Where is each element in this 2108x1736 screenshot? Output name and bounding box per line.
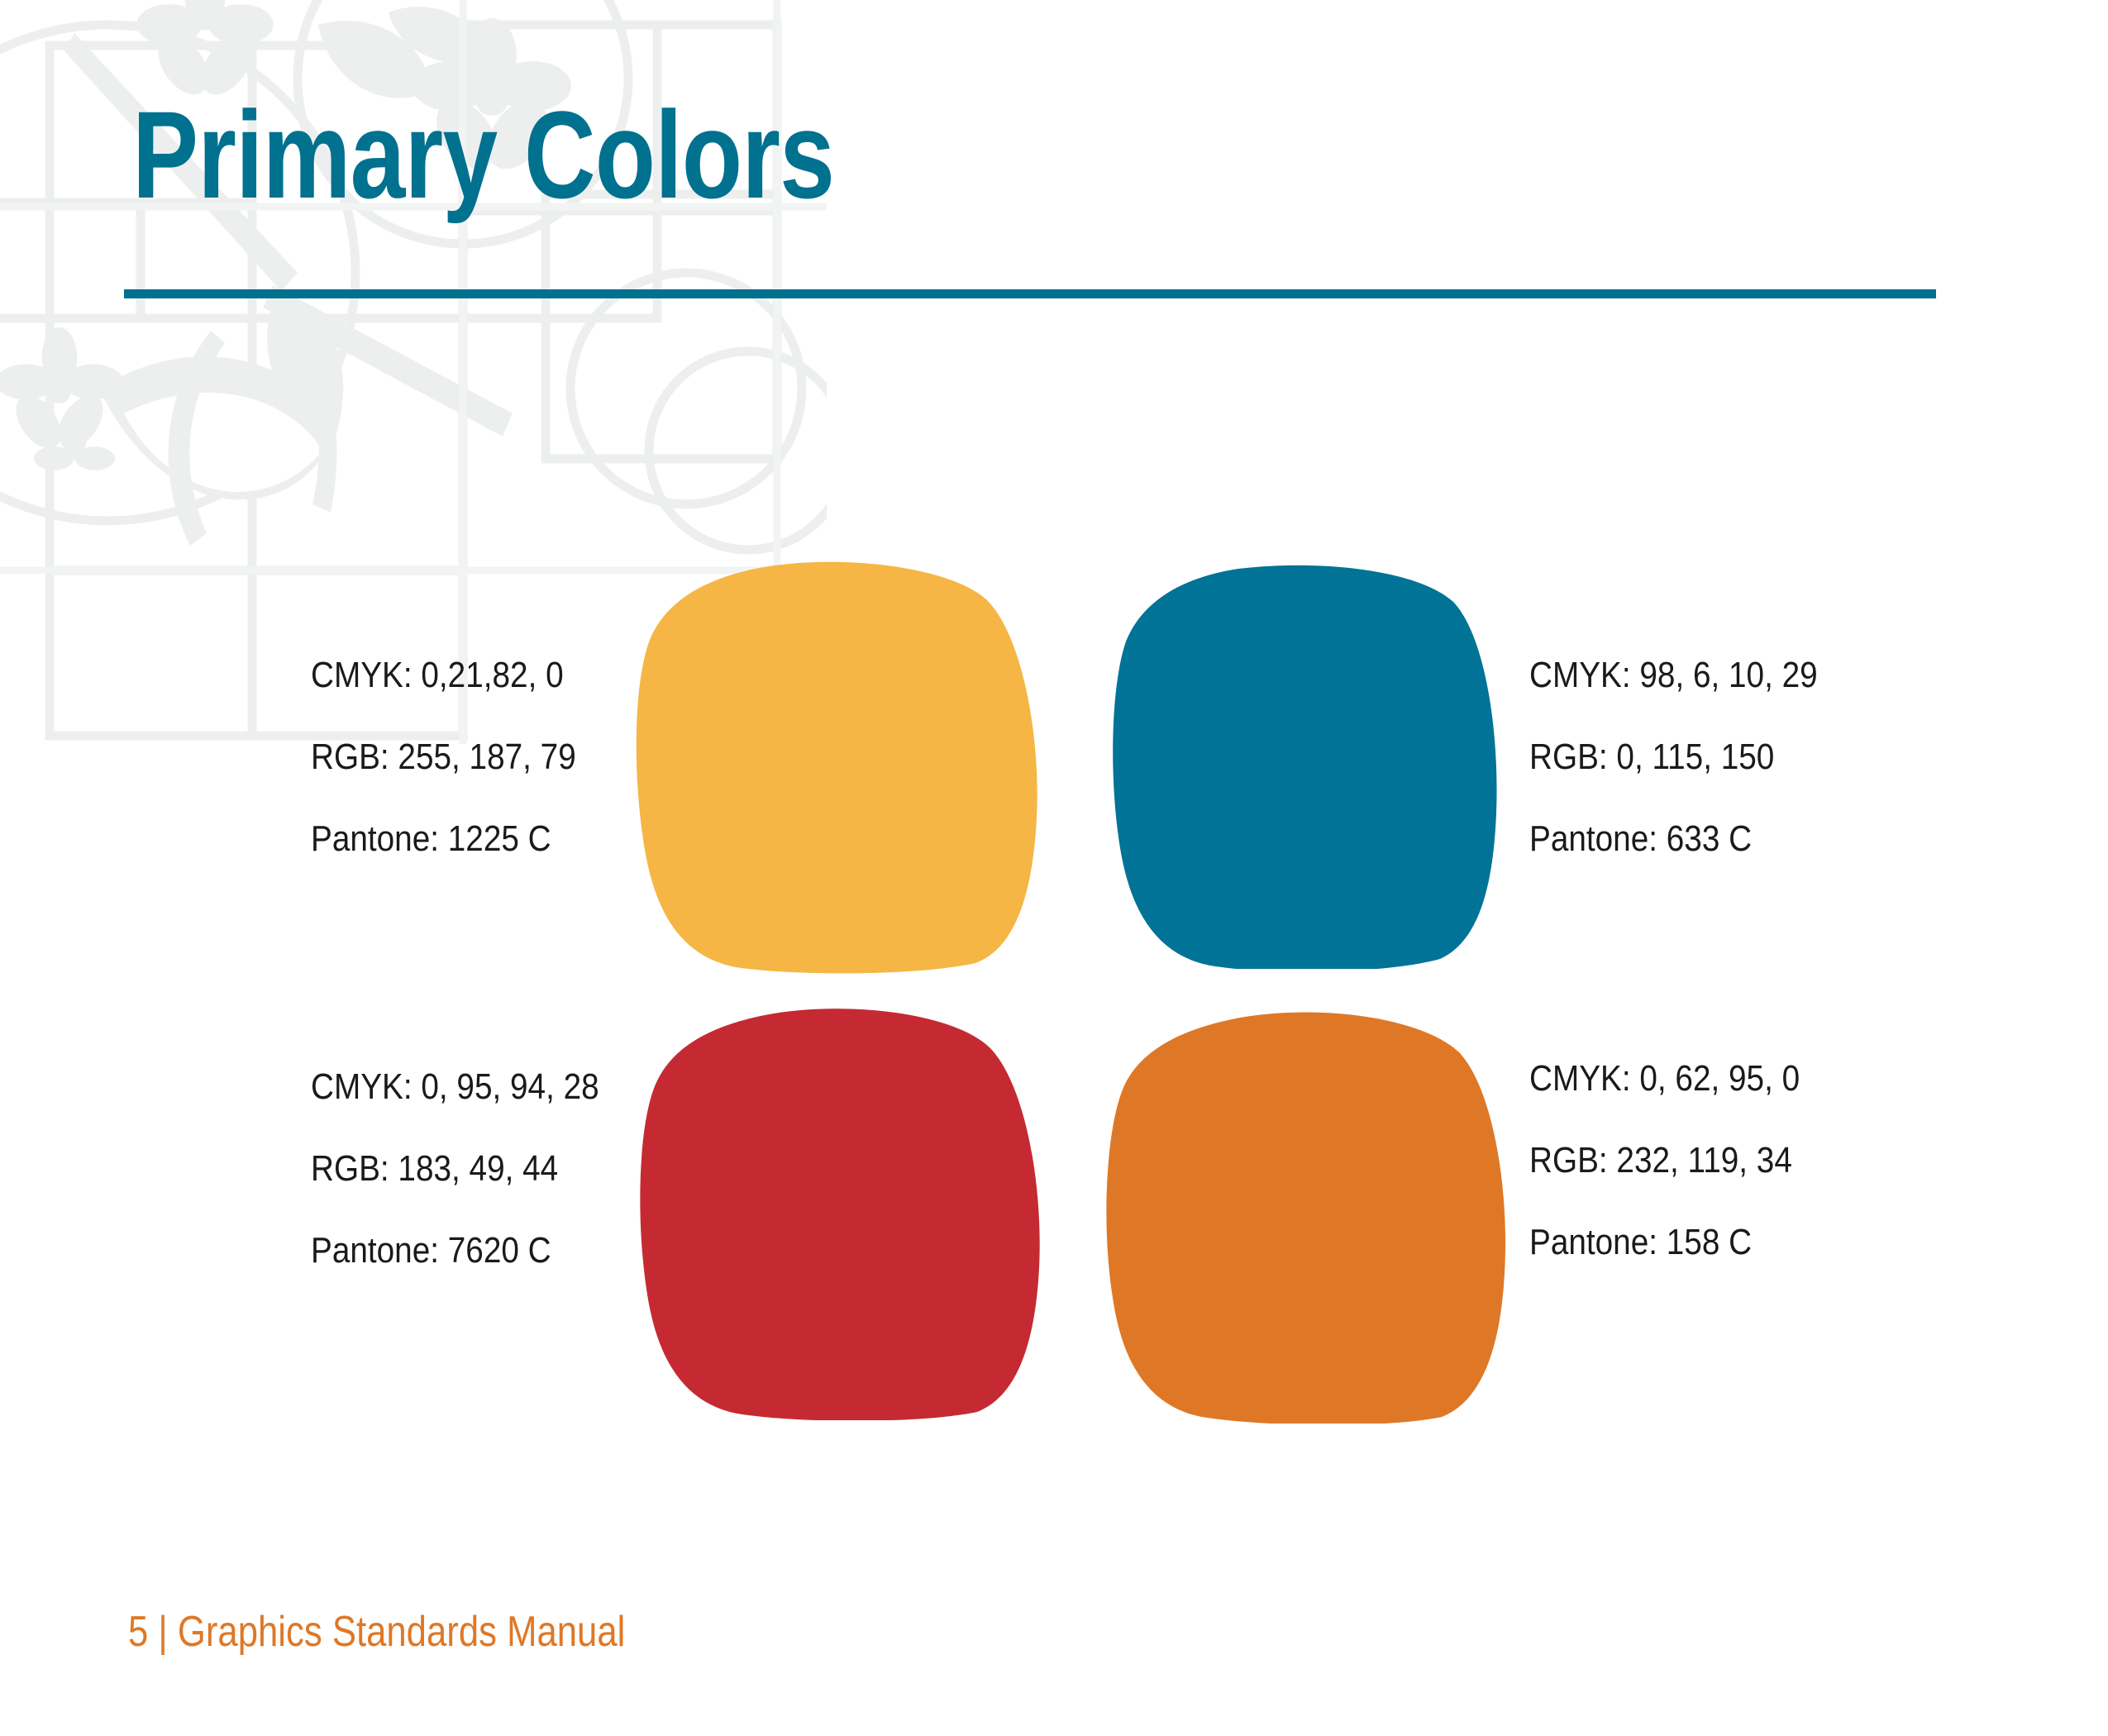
spec-rgb-yellow: RGB: 255, 187, 79 (311, 739, 576, 775)
spec-pantone-red: Pantone: 7620 C (311, 1233, 599, 1269)
spec-pantone-orange: Pantone: 158 C (1529, 1224, 1800, 1261)
slide-page: Primary Colors CMYK: 0,21,82, 0 RGB: 255… (0, 0, 2108, 1736)
spec-block-red: CMYK: 0, 95, 94, 28 RGB: 183, 49, 44 Pan… (311, 1069, 599, 1269)
spec-cmyk-red: CMYK: 0, 95, 94, 28 (311, 1069, 599, 1105)
spec-cmyk-orange: CMYK: 0, 62, 95, 0 (1529, 1061, 1800, 1097)
spec-rgb-teal: RGB: 0, 115, 150 (1529, 739, 1818, 775)
spec-block-orange: CMYK: 0, 62, 95, 0 RGB: 232, 119, 34 Pan… (1529, 1061, 1800, 1261)
spec-cmyk-yellow: CMYK: 0,21,82, 0 (311, 657, 576, 694)
spec-pantone-yellow: Pantone: 1225 C (311, 821, 576, 857)
color-swatch-red (633, 1007, 1047, 1420)
color-swatch-yellow (630, 560, 1043, 974)
swatch-shape-yellow (637, 562, 1037, 974)
spec-block-teal: CMYK: 98, 6, 10, 29 RGB: 0, 115, 150 Pan… (1529, 657, 1818, 857)
swatch-shape-red (640, 1009, 1039, 1420)
spec-block-yellow: CMYK: 0,21,82, 0 RGB: 255, 187, 79 Panto… (311, 657, 576, 857)
swatch-shape-orange (1106, 1012, 1505, 1424)
color-swatch-teal (1106, 564, 1503, 969)
spec-pantone-teal: Pantone: 633 C (1529, 821, 1818, 857)
swatch-shape-teal (1113, 565, 1496, 969)
spec-rgb-red: RGB: 183, 49, 44 (311, 1151, 599, 1187)
spec-cmyk-teal: CMYK: 98, 6, 10, 29 (1529, 657, 1818, 694)
spec-rgb-orange: RGB: 232, 119, 34 (1529, 1142, 1800, 1179)
color-swatch-orange (1099, 1010, 1513, 1424)
footer-page-label: 5 | Graphics Standards Manual (128, 1610, 625, 1653)
title-underline-rule (124, 289, 1936, 298)
page-title: Primary Colors (132, 93, 834, 217)
